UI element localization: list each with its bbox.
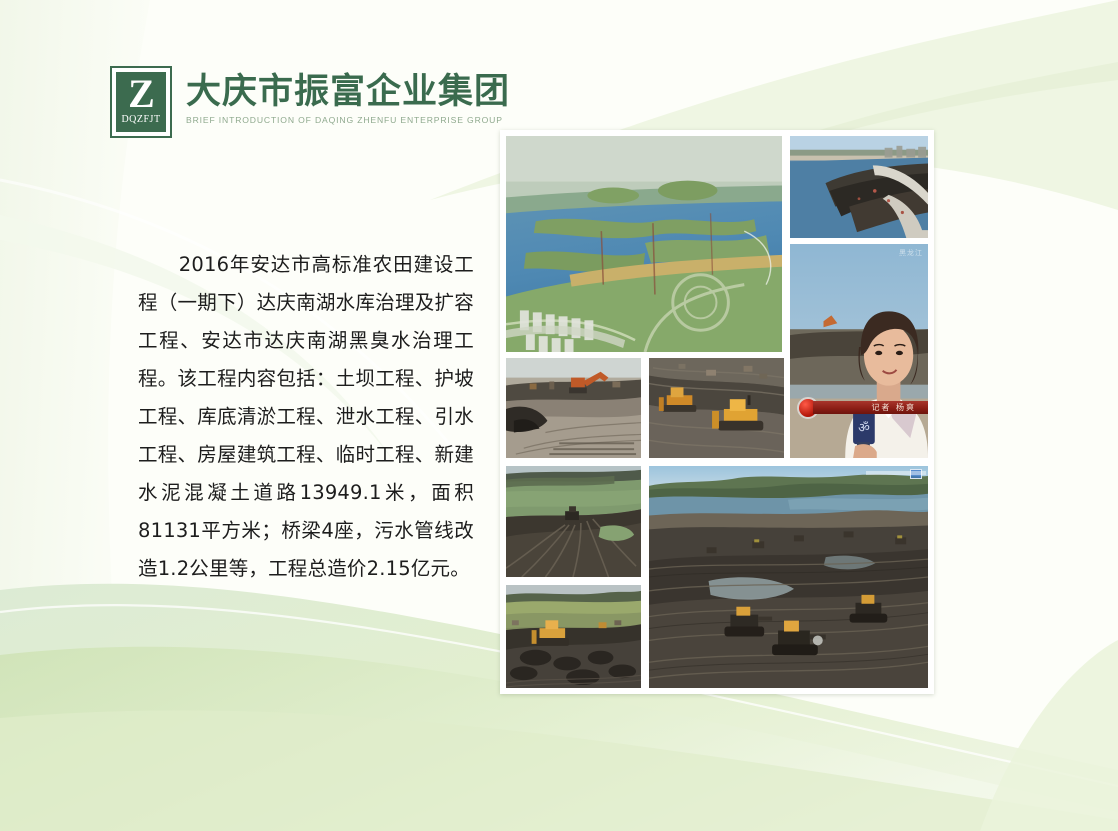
photo-bulldozers: [648, 357, 785, 459]
photo-channel-dredging: [505, 465, 642, 578]
photo-shoreline-aerial: [789, 135, 929, 239]
company-name-title: 大庆市振富企业集团: [186, 72, 510, 112]
lower-third-banner: 记者 杨爽: [801, 394, 928, 422]
photo-collage: ॐ 黑龙江 记者 杨爽: [500, 130, 934, 694]
photo-lake-rendering: [505, 135, 783, 353]
svg-text:ॐ: ॐ: [858, 421, 870, 436]
company-name-subtitle: BRIEF INTRODUCTION OF DAQING ZHENFU ENTE…: [186, 114, 510, 126]
project-description-paragraph: 2016年安达市高标准农田建设工程（一期下）达庆南湖水库治理及扩容工程、安达市达…: [138, 246, 474, 588]
photo-panorama-dredge: [648, 465, 929, 689]
video-progress-strip: [866, 471, 926, 475]
photo-excavator-site: [505, 357, 642, 459]
photo-reporter: ॐ 黑龙江 记者 杨爽: [789, 243, 929, 459]
photo-grass-machine: [505, 584, 642, 689]
logo-letter-z: Z: [128, 75, 154, 113]
company-logo-block: Z DQZFJT 大庆市振富企业集团 BRIEF INTRODUCTION OF…: [110, 66, 510, 138]
logo-abbreviation: DQZFJT: [121, 114, 160, 125]
logo-mark-icon: Z DQZFJT: [110, 66, 172, 138]
reporter-name-label: 记者 杨爽: [871, 402, 916, 413]
channel-watermark: 黑龙江: [899, 248, 923, 258]
logo-text-group: 大庆市振富企业集团 BRIEF INTRODUCTION OF DAQING Z…: [186, 66, 510, 126]
slide-canvas: Z DQZFJT 大庆市振富企业集团 BRIEF INTRODUCTION OF…: [0, 0, 1118, 831]
